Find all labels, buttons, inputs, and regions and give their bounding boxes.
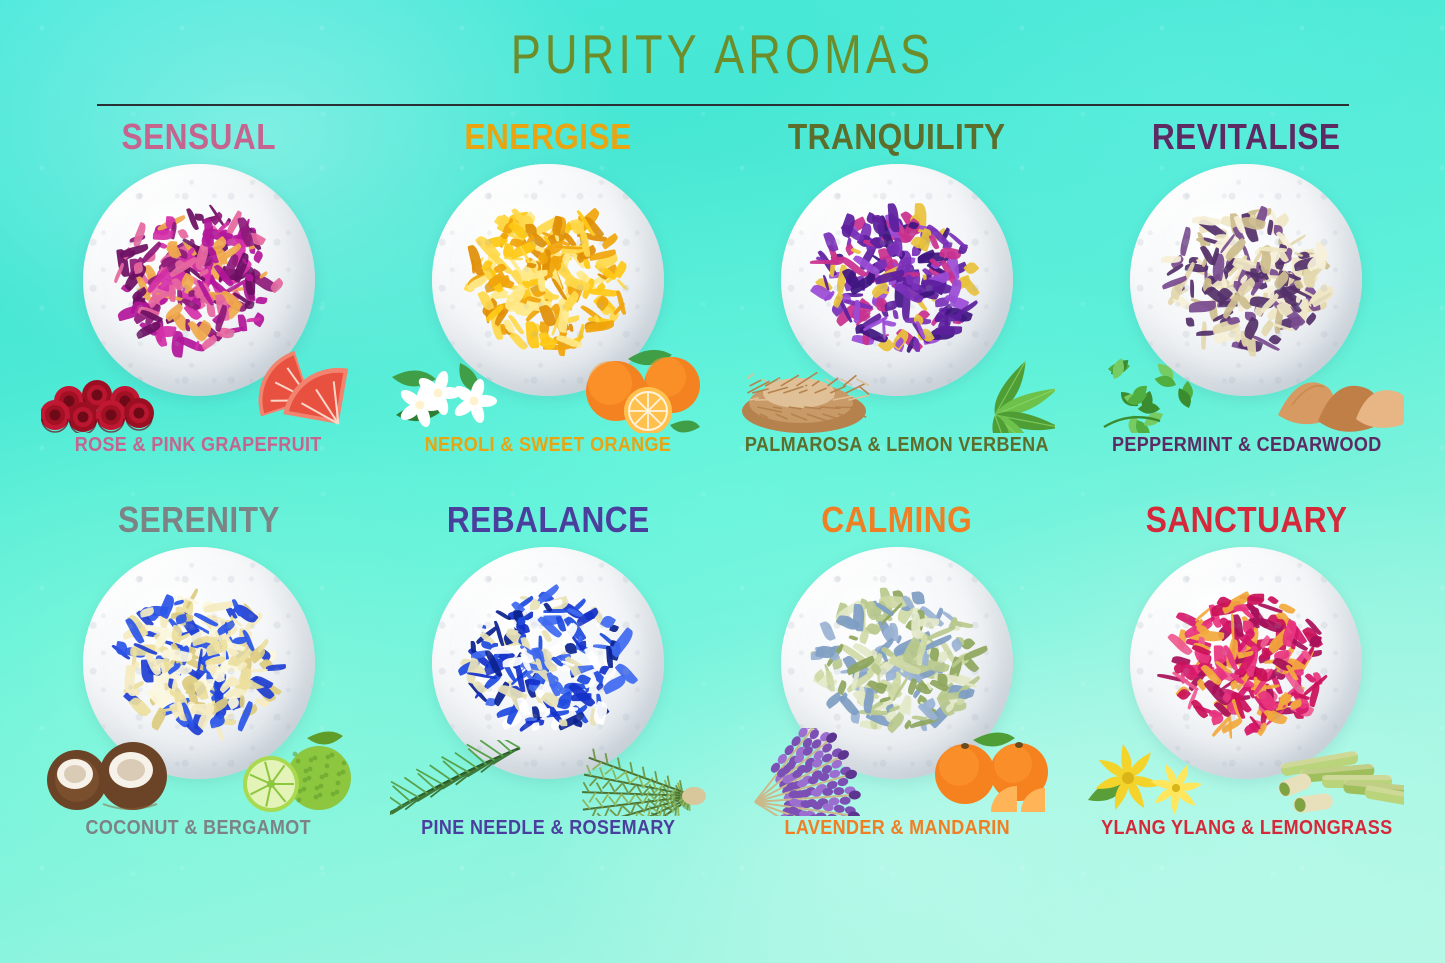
product-tile-calming[interactable]: CALMING: [723, 499, 1072, 882]
product-title-rebalance: REBALANCE: [446, 499, 649, 541]
product-title-sensual: SENSUAL: [121, 116, 275, 158]
mandarin-fruit-icon: [925, 724, 1055, 821]
pine-needle-sprig-icon: [390, 740, 526, 821]
petal-heap-rebalance: [460, 585, 636, 741]
lemongrass-stalk-icon: [1270, 732, 1404, 821]
title-divider: [97, 104, 1349, 106]
petal-heap-energise: [460, 202, 636, 358]
product-tile-energise[interactable]: ENERGISE: [373, 116, 722, 499]
product-image-energise: [388, 164, 708, 432]
lemon-verbena-leaf-icon: [935, 345, 1055, 438]
poster-header: PURITY AROMAS: [0, 0, 1445, 106]
lavender-bunch-icon: [739, 728, 879, 821]
petal-heap-revitalise: [1158, 202, 1334, 358]
ylang-ylang-flower-icon: [1088, 726, 1218, 821]
product-title-serenity: SERENITY: [118, 499, 280, 541]
poster-canvas: PURITY AROMAS SENSUAL: [0, 0, 1445, 963]
product-tile-serenity[interactable]: SERENITY: [24, 499, 373, 882]
product-tile-sanctuary[interactable]: SANCTUARY: [1072, 499, 1421, 882]
bergamot-lime-icon: [233, 724, 357, 821]
product-tile-sensual[interactable]: SENSUAL: [24, 116, 373, 499]
product-tile-rebalance[interactable]: REBALANCE: [373, 499, 722, 882]
petal-heap-serenity: [111, 585, 287, 741]
grapefruit-wedge-icon: [237, 347, 357, 438]
peppermint-leaf-icon: [1088, 349, 1208, 438]
petal-heap-tranquility: [809, 202, 985, 358]
rosemary-bundle-icon: [566, 738, 706, 821]
petal-heap-sanctuary: [1158, 585, 1334, 741]
product-tile-tranquility[interactable]: TRANQUILITY: [723, 116, 1072, 499]
petal-heap-sensual: [111, 202, 287, 358]
page-title: PURITY AROMAS: [130, 26, 1315, 84]
product-image-calming: [737, 547, 1057, 815]
rose-bouquet-icon: [41, 353, 171, 438]
product-title-sanctuary: SANCTUARY: [1146, 499, 1348, 541]
product-image-rebalance: [388, 547, 708, 815]
palmarosa-grass-icon: [739, 353, 869, 438]
product-image-serenity: [39, 547, 359, 815]
petal-heap-calming: [809, 585, 985, 741]
neroli-blossom-icon: [390, 349, 510, 438]
product-grid: SENSUAL: [0, 106, 1445, 882]
product-title-energise: ENERGISE: [464, 116, 631, 158]
cedarwood-bark-icon: [1274, 349, 1404, 438]
product-tile-revitalise[interactable]: REVITALISE PEPPERMINT & CED: [1072, 116, 1421, 499]
product-title-revitalise: REVITALISE: [1152, 116, 1341, 158]
orange-fruit-icon: [576, 341, 706, 438]
product-title-tranquility: TRANQUILITY: [788, 116, 1006, 158]
product-image-sanctuary: [1086, 547, 1406, 815]
product-image-tranquility: [737, 164, 1057, 432]
product-image-sensual: [39, 164, 359, 432]
product-title-calming: CALMING: [822, 499, 973, 541]
product-image-revitalise: [1086, 164, 1406, 432]
coconut-halves-icon: [41, 724, 171, 821]
